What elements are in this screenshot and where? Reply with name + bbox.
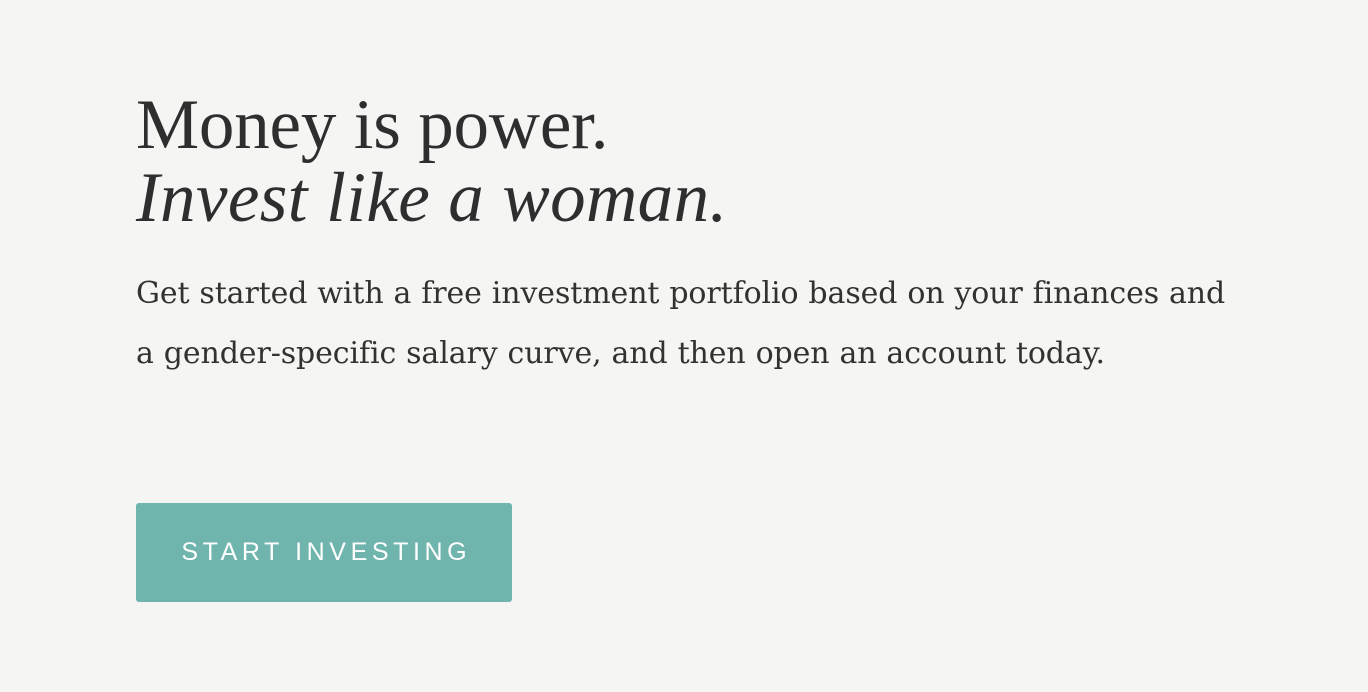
hero-description: Get started with a free investment portf… — [136, 264, 1226, 384]
hero-section: Money is power. Invest like a woman. Get… — [0, 0, 1368, 692]
headline-line-primary: Money is power. — [136, 88, 608, 162]
start-investing-button[interactable]: Start Investing — [136, 503, 512, 602]
headline-line-emphasis: Invest like a woman. — [136, 161, 728, 235]
